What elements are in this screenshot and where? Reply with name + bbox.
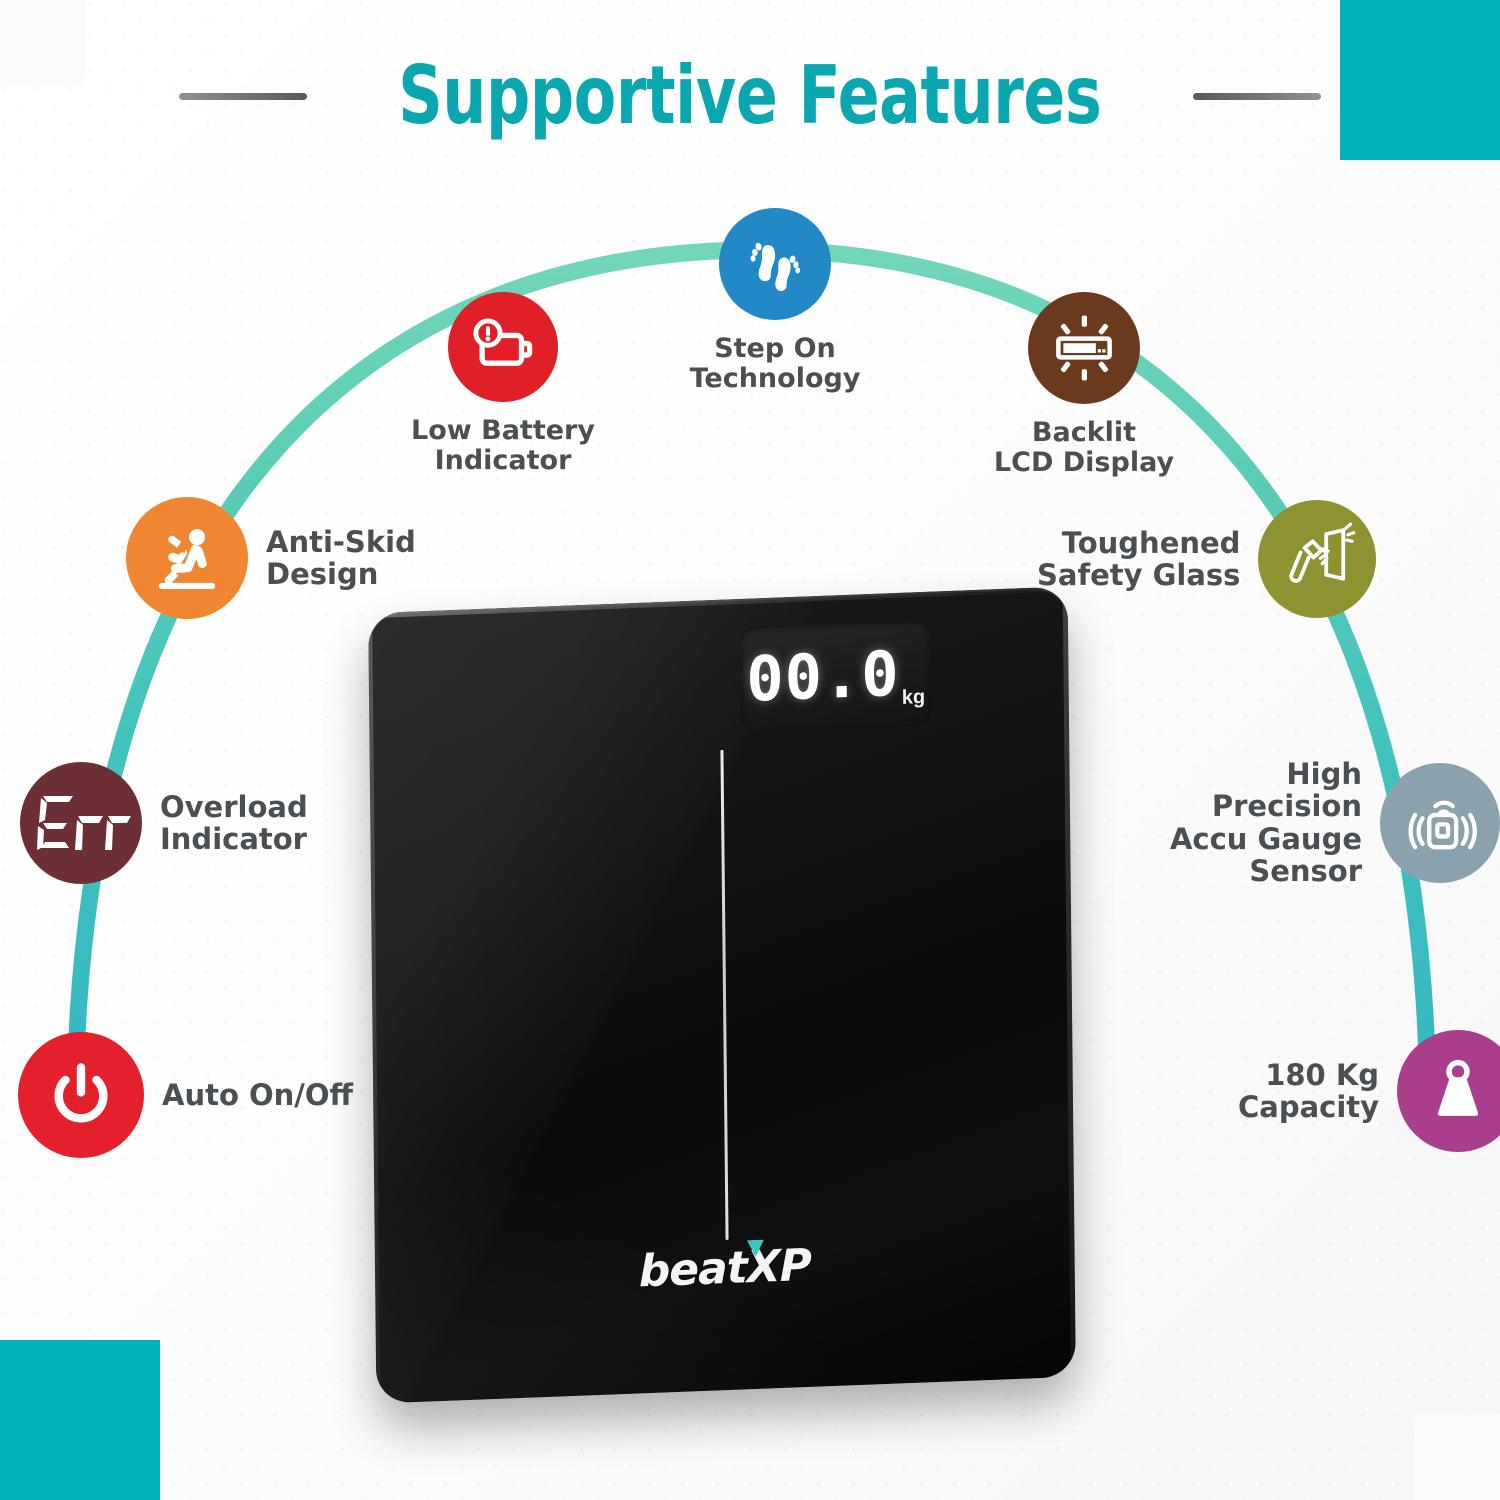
slip-person-icon xyxy=(126,497,248,619)
battery-low-icon xyxy=(448,292,558,402)
feature-anti-skid-design[interactable]: Anti-Skid Design xyxy=(126,497,416,619)
feature-capacity[interactable]: 180 Kg Capacity xyxy=(1238,1030,1500,1152)
page-header: Supportive Features xyxy=(0,46,1500,146)
feature-label: Backlit LCD Display xyxy=(994,418,1174,478)
hammer-glass-icon xyxy=(1258,500,1376,618)
scale-gloss-secondary xyxy=(373,1069,868,1404)
feature-step-on-technology[interactable]: Step On Technology xyxy=(640,208,910,394)
infographic-page: Supportive Features 00.0 xyxy=(0,0,1500,1500)
scale-glass-platform: 00.0 kg beatXP xyxy=(368,586,1076,1403)
power-icon xyxy=(18,1032,144,1158)
feature-label: Anti-Skid Design xyxy=(266,526,416,591)
lcd-weight-value: 00.0 xyxy=(746,642,900,710)
sensor-signal-icon xyxy=(1380,763,1500,883)
feature-label: Overload Indicator xyxy=(160,791,308,856)
backlit-display-icon xyxy=(1028,292,1140,404)
scale-top-edge xyxy=(368,586,1068,618)
scale-lcd-display: 00.0 kg xyxy=(740,620,931,732)
lcd-unit-label: kg xyxy=(902,686,926,710)
feature-backlit-lcd-display[interactable]: Backlit LCD Display xyxy=(948,292,1220,478)
feature-label: Step On Technology xyxy=(690,334,861,394)
feature-label: Toughened Safety Glass xyxy=(1037,527,1240,592)
footprints-icon xyxy=(719,208,831,320)
scale-brand-area: beatXP xyxy=(375,1230,1075,1308)
feature-label: 180 Kg Capacity xyxy=(1238,1059,1379,1124)
header-rule-left xyxy=(179,93,307,100)
brand-accent-tick xyxy=(747,1240,764,1258)
weighing-scale-product: 00.0 kg beatXP xyxy=(330,560,1130,1430)
weight-icon xyxy=(1397,1030,1500,1152)
page-title: Supportive Features xyxy=(398,56,1101,136)
feature-label: High Precision Accu Gauge Sensor xyxy=(1139,758,1362,888)
header-rule-right xyxy=(1193,93,1321,100)
scale-center-line xyxy=(721,750,729,1240)
brand-logo-text: beatXP xyxy=(639,1240,812,1298)
feature-high-precision-sensor[interactable]: High Precision Accu Gauge Sensor xyxy=(1139,758,1500,888)
feature-label: Low Battery Indicator xyxy=(411,416,595,476)
err-display-icon xyxy=(20,762,142,884)
feature-low-battery-indicator[interactable]: Low Battery Indicator xyxy=(368,292,638,476)
feature-overload-indicator[interactable]: Overload Indicator xyxy=(20,762,308,884)
feature-label: Auto On/Off xyxy=(162,1079,353,1111)
feature-toughened-safety-glass[interactable]: Toughened Safety Glass xyxy=(1037,500,1376,618)
feature-auto-on-off[interactable]: Auto On/Off xyxy=(18,1032,353,1158)
